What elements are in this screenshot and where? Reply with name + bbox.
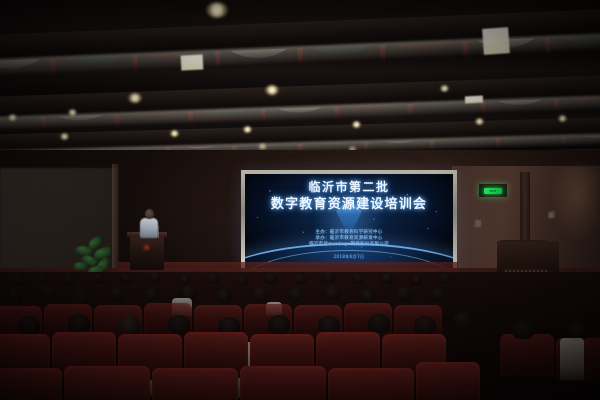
ceiling-downlight-icon — [206, 2, 228, 18]
audience-member — [12, 274, 25, 285]
audience-member — [108, 287, 124, 301]
audience-member — [430, 288, 445, 301]
audience-member — [18, 316, 40, 335]
audience-member — [168, 315, 190, 334]
audience-member — [368, 314, 390, 333]
audience-member — [148, 272, 161, 283]
slide-date: 2018年6月7日 — [245, 254, 453, 260]
audience-member — [322, 272, 335, 283]
exit-sign: EXIT — [479, 184, 507, 197]
auditorium-seat — [500, 334, 554, 376]
audience-member — [92, 273, 105, 284]
projection-screen: 临沂市第二批 数字教育资源建设培训会 主办：临沂市教育科学研究中心 承办：临沂市… — [245, 174, 453, 268]
audience-member — [268, 315, 290, 334]
audience-member — [206, 273, 219, 284]
exit-sign-label: EXIT — [484, 188, 502, 194]
auditorium-seat — [0, 368, 62, 400]
auditorium-seat — [64, 366, 150, 400]
ceiling-panel-light-icon — [181, 54, 204, 70]
audience-member — [438, 273, 451, 284]
auditorium-seat — [328, 368, 414, 400]
audience-member — [380, 273, 393, 284]
presenter-head — [145, 209, 154, 219]
audience-member — [236, 275, 248, 285]
audience-member — [294, 274, 306, 284]
audience-member — [74, 289, 89, 302]
audience-member — [252, 287, 268, 301]
ceiling-panel-light-icon — [465, 96, 483, 104]
audience-member — [452, 312, 472, 330]
auditorium-seating-area — [0, 272, 600, 400]
audience-member — [118, 316, 140, 335]
audience-member — [178, 274, 190, 284]
audience-member — [352, 274, 364, 284]
audience-member — [396, 287, 412, 301]
auditorium-seat — [416, 362, 480, 400]
microphone-stand-icon — [158, 226, 159, 238]
audience-member — [62, 275, 74, 285]
slide-title-line-2: 数字教育资源建设培训会 — [245, 196, 453, 213]
audience-member — [410, 275, 422, 285]
auditorium-seat — [152, 368, 238, 400]
audience-member — [6, 288, 22, 302]
projection-screen-frame: 临沂市第二批 数字教育资源建设培训会 主办：临沂市教育科学研究中心 承办：临沂市… — [241, 170, 457, 274]
audience-member — [144, 288, 159, 301]
audience-member — [288, 288, 303, 301]
audience-member — [216, 289, 231, 302]
audience-member — [324, 286, 340, 300]
wall-outlet-plate[interactable] — [548, 213, 553, 218]
audience-member — [36, 272, 49, 283]
ceiling-panel-light-icon — [482, 27, 510, 55]
podium-emblem — [142, 244, 151, 251]
podium — [130, 234, 164, 270]
audience-member — [264, 273, 277, 284]
slide-title-block: 临沂市第二批 数字教育资源建设培训会 — [245, 180, 453, 213]
audience-member — [360, 289, 375, 302]
conference-hall-photo: EXIT 临沂市第二批 数字教育资源建设培训会 主办：临沂市教育科学研究中心 承… — [0, 0, 600, 400]
audience-member — [68, 314, 90, 333]
slide-organizer-line: 临沂市优montage网络股份有限公司 — [245, 242, 453, 248]
presenter-body — [140, 218, 158, 238]
slide-organizer-block: 主办：临沂市教育科学研究中心 承办：临沂市教育资源研发中心 临沂市优montag… — [245, 230, 453, 249]
audience-member — [120, 274, 132, 284]
audience-member — [40, 286, 56, 300]
slide-title-line-1: 临沂市第二批 — [245, 180, 453, 195]
audience-member — [414, 316, 436, 335]
ceiling — [0, 0, 600, 168]
audience-member — [512, 320, 534, 339]
audience-member-shirt — [560, 338, 584, 380]
wall-switch-plate[interactable] — [475, 220, 481, 227]
auditorium-seat — [240, 366, 326, 400]
